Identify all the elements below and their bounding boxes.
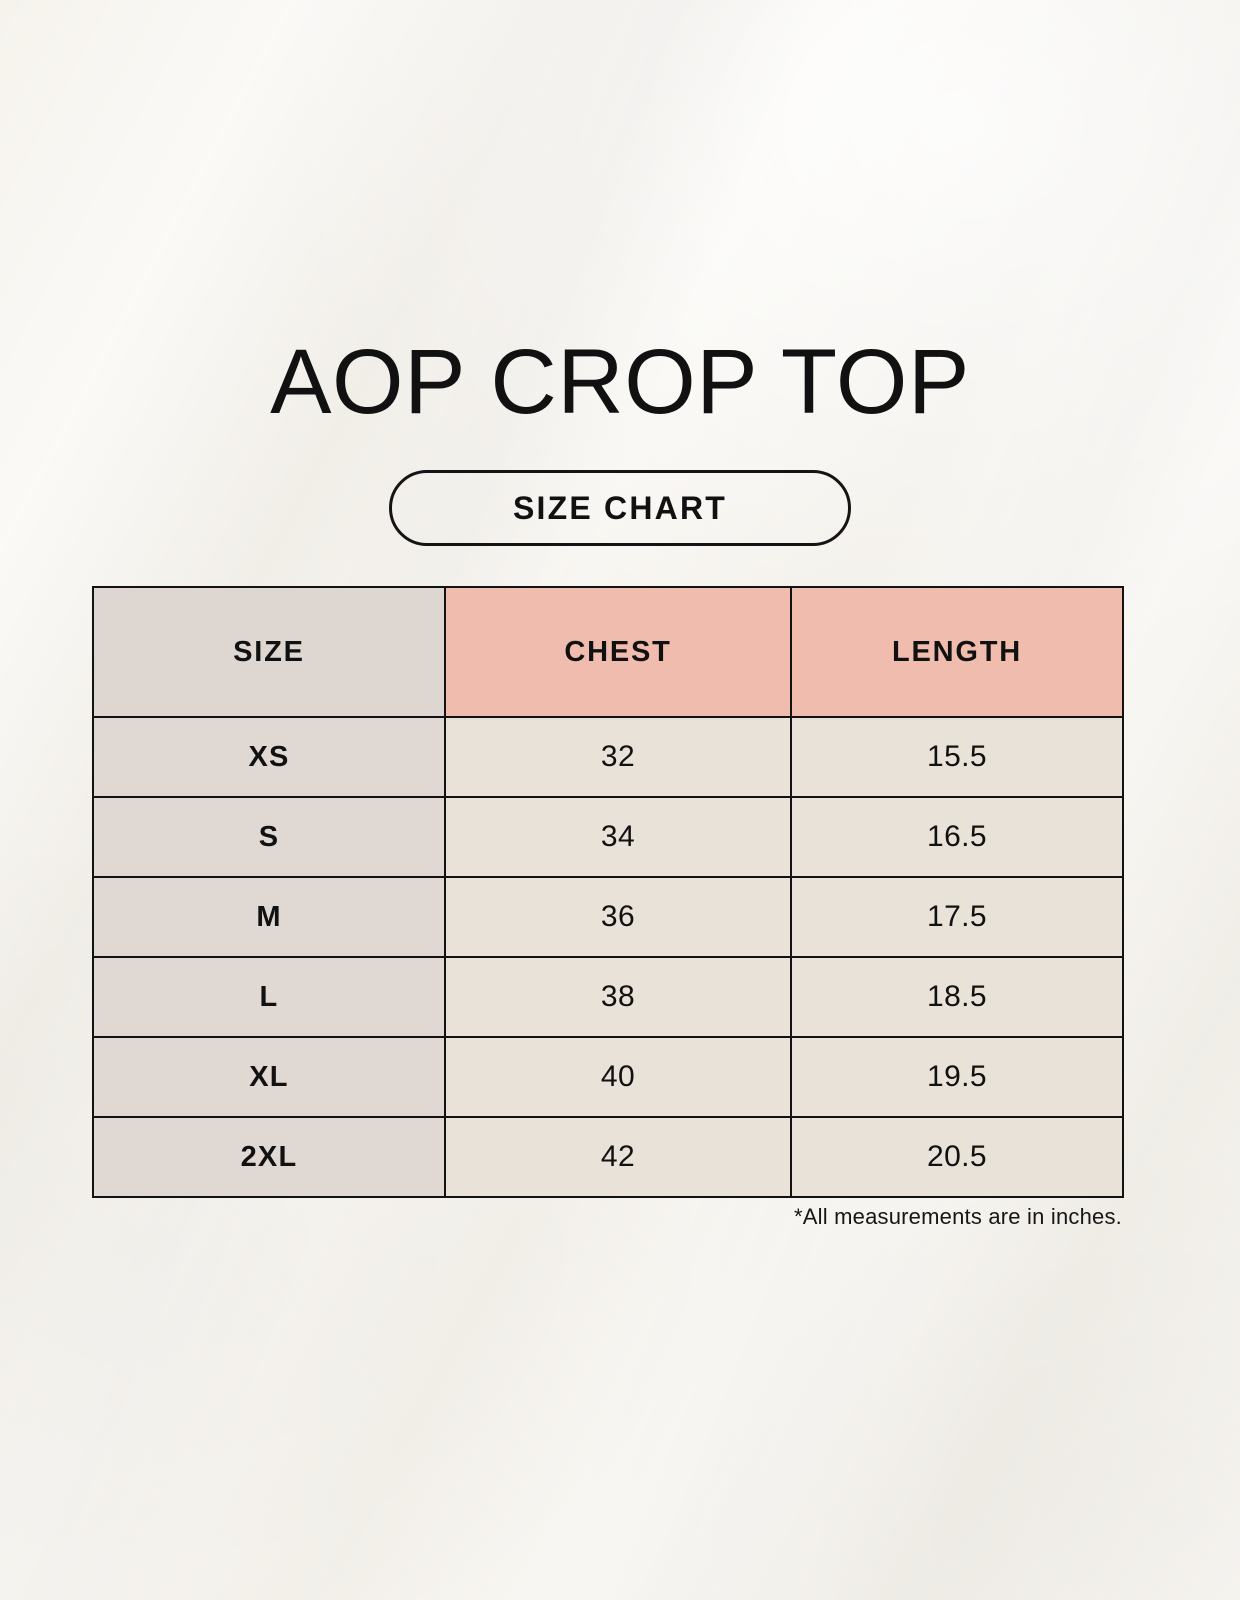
table-row: XL 40 19.5 (93, 1037, 1123, 1117)
column-header-length: LENGTH (791, 587, 1123, 717)
measurement-units-footnote: *All measurements are in inches. (794, 1204, 1122, 1230)
table-row: M 36 17.5 (93, 877, 1123, 957)
cell-size: S (93, 797, 445, 877)
cell-size: XS (93, 717, 445, 797)
page-title: AOP CROP TOP (0, 336, 1240, 428)
cell-length: 20.5 (791, 1117, 1123, 1197)
cell-length: 15.5 (791, 717, 1123, 797)
table-row: XS 32 15.5 (93, 717, 1123, 797)
table-row: 2XL 42 20.5 (93, 1117, 1123, 1197)
size-chart-page: AOP CROP TOP SIZE CHART SIZE CHEST LENGT… (0, 0, 1240, 1600)
cell-chest: 32 (445, 717, 791, 797)
table-body: XS 32 15.5 S 34 16.5 M 36 17.5 L 38 18.5… (93, 717, 1123, 1197)
cell-chest: 38 (445, 957, 791, 1037)
cell-size: L (93, 957, 445, 1037)
cell-size: XL (93, 1037, 445, 1117)
table-header-row: SIZE CHEST LENGTH (93, 587, 1123, 717)
cell-length: 18.5 (791, 957, 1123, 1037)
size-chart-table: SIZE CHEST LENGTH XS 32 15.5 S 34 16.5 M… (92, 586, 1124, 1198)
cell-chest: 36 (445, 877, 791, 957)
table-row: S 34 16.5 (93, 797, 1123, 877)
column-header-chest: CHEST (445, 587, 791, 717)
cell-chest: 42 (445, 1117, 791, 1197)
cell-chest: 34 (445, 797, 791, 877)
cell-length: 17.5 (791, 877, 1123, 957)
cell-length: 16.5 (791, 797, 1123, 877)
cell-length: 19.5 (791, 1037, 1123, 1117)
size-chart-badge: SIZE CHART (389, 470, 851, 546)
table-header: SIZE CHEST LENGTH (93, 587, 1123, 717)
size-chart-badge-label: SIZE CHART (513, 490, 727, 527)
table-row: L 38 18.5 (93, 957, 1123, 1037)
cell-size: M (93, 877, 445, 957)
column-header-size: SIZE (93, 587, 445, 717)
cell-size: 2XL (93, 1117, 445, 1197)
cell-chest: 40 (445, 1037, 791, 1117)
